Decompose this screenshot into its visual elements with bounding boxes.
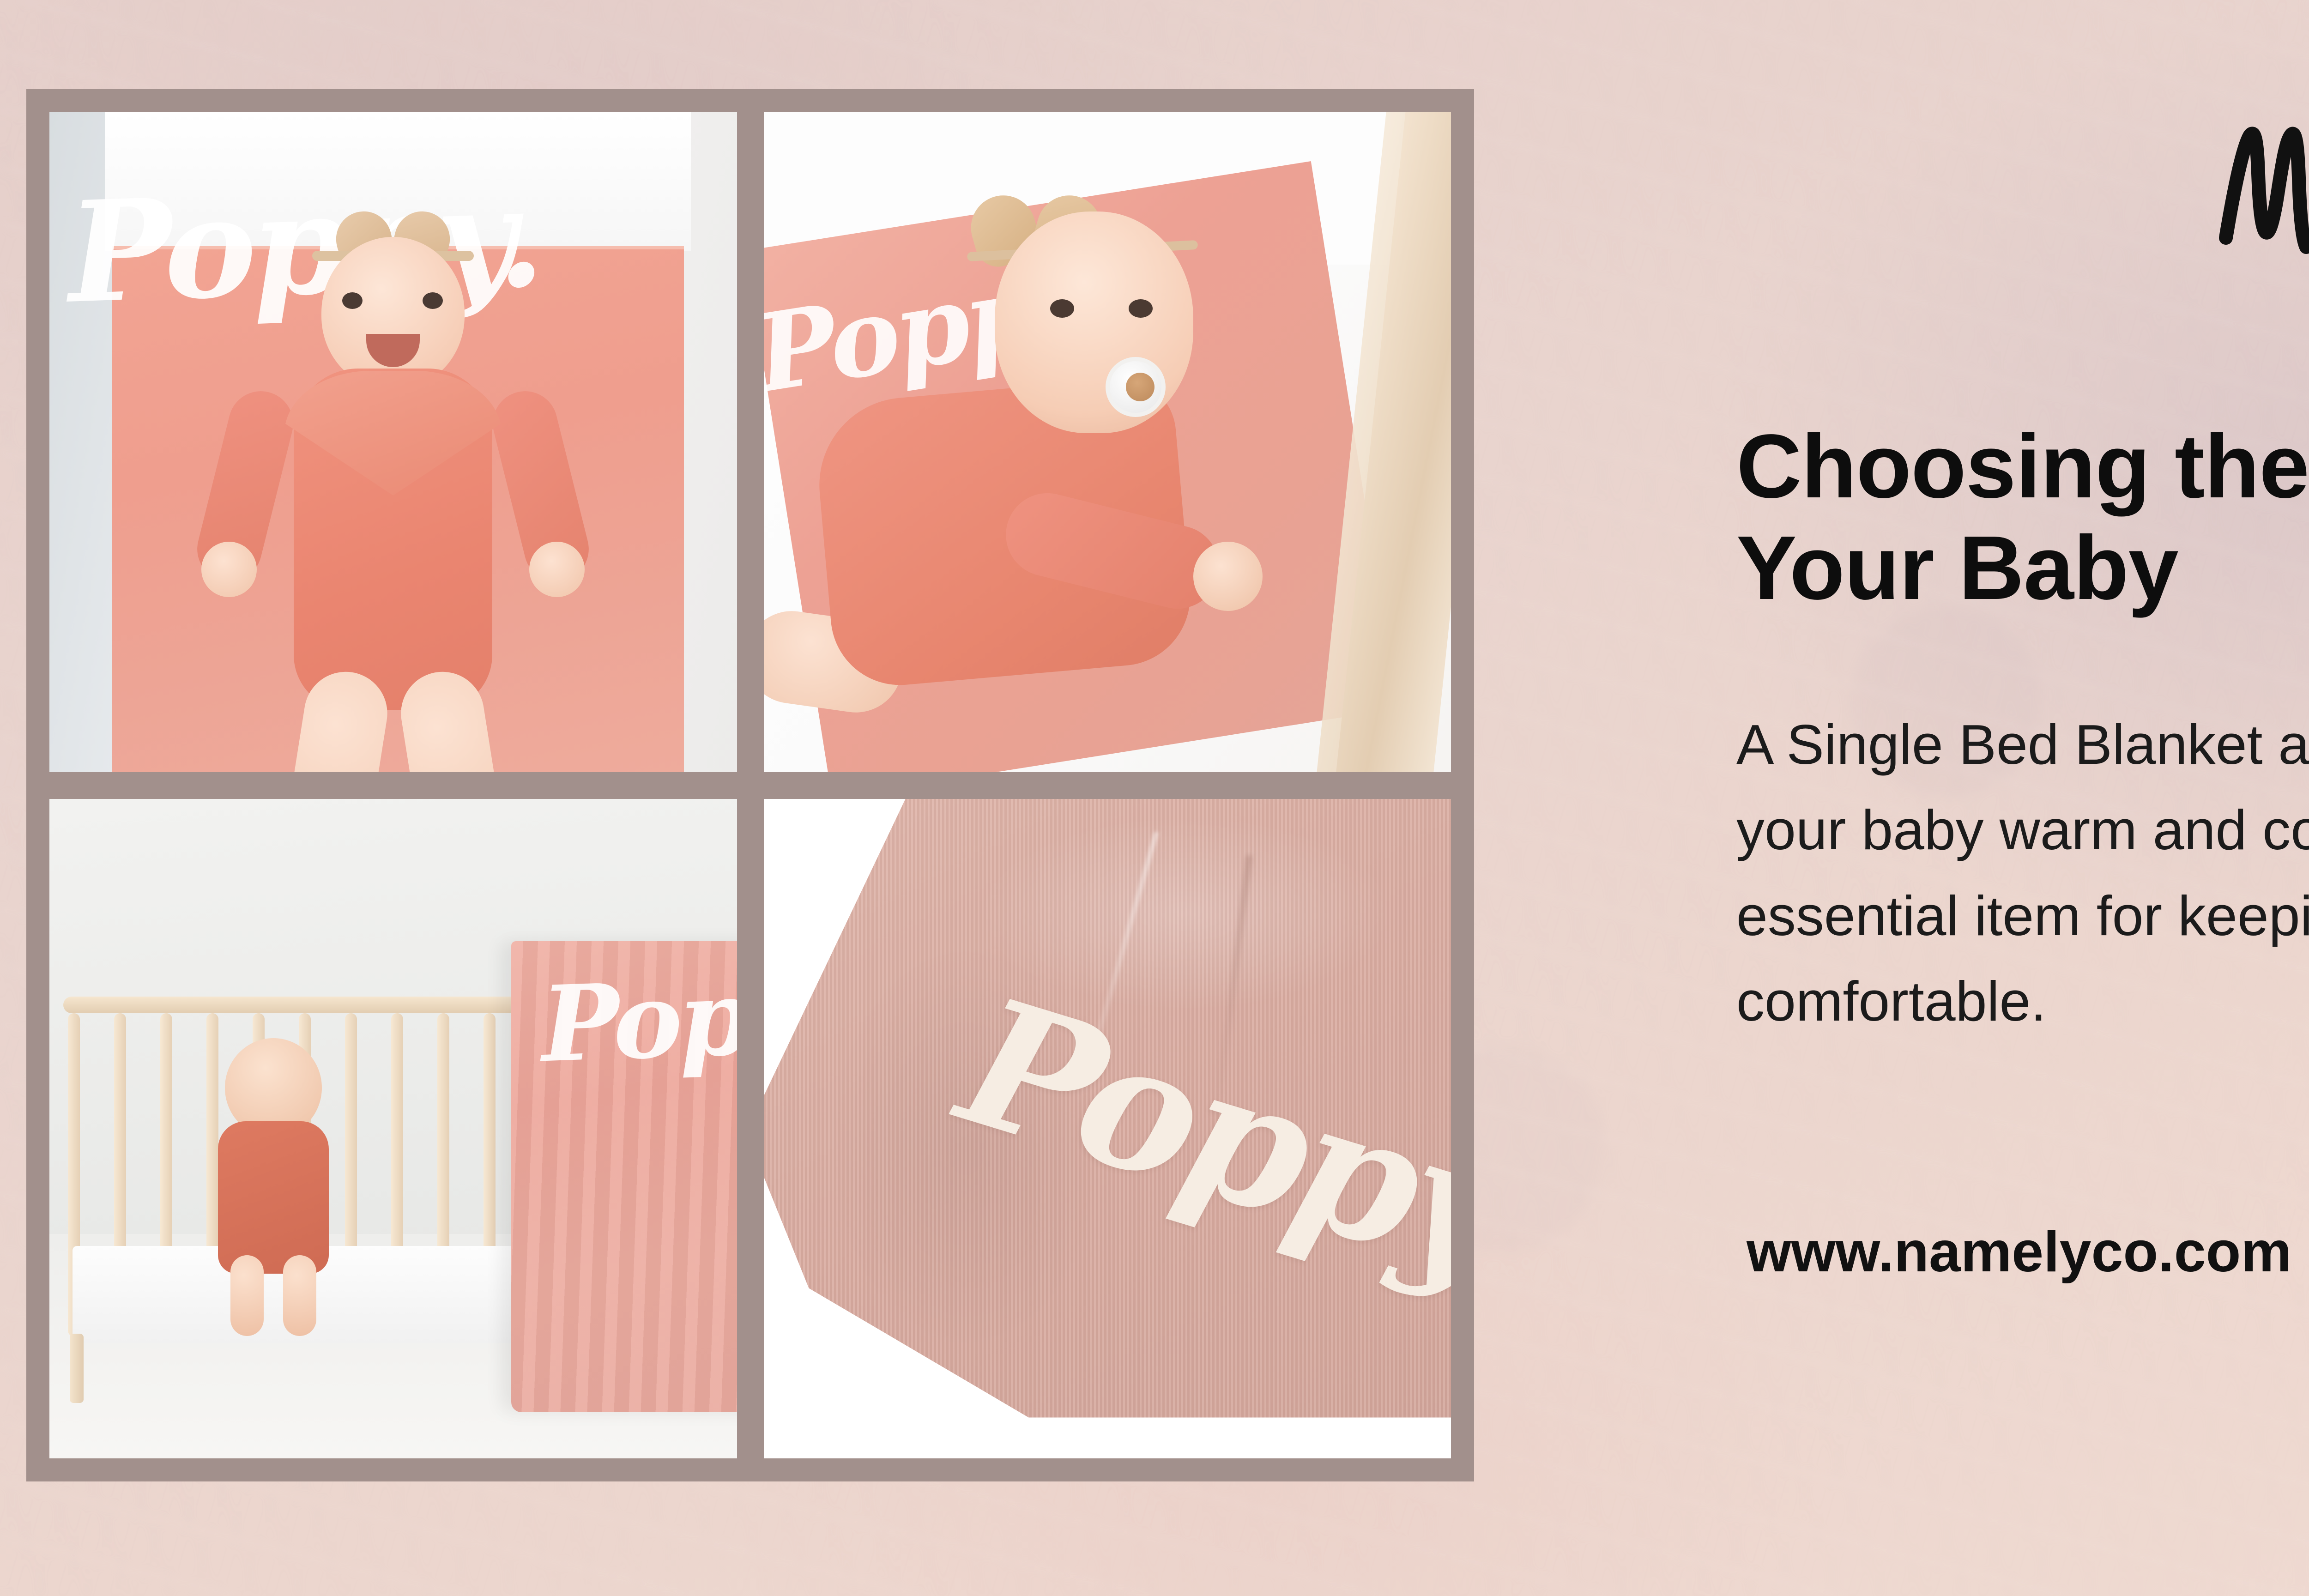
blanket-name-text: Poppy. — [539, 952, 737, 1086]
photo-collage: Poppy. Poppy. — [26, 89, 1474, 1481]
baby-eye-right — [423, 292, 443, 309]
baby-standing — [197, 1038, 350, 1324]
website-url[interactable]: www.namelyco.com — [1747, 1219, 2292, 1285]
content-panel: Choosing the Right Bedding for Your Baby… — [1736, 0, 2309, 1596]
body-paragraph: A Single Bed Blanket and baby beanie can… — [1736, 702, 2309, 1045]
baby-eye-right — [1129, 299, 1153, 318]
baby-eye-left — [342, 292, 363, 309]
baby-eye-left — [1050, 299, 1074, 318]
pacifier-icon — [1069, 352, 1166, 422]
collage-photo-top-left[interactable]: Poppy. — [49, 112, 737, 772]
baby-hand — [1193, 542, 1263, 611]
baby-hand-right — [529, 542, 585, 597]
collage-photo-top-right[interactable]: Poppy. — [764, 112, 1451, 772]
collage-photo-bottom-right[interactable]: Poppy. — [764, 799, 1451, 1459]
blanket-name-text: Poppy. — [65, 155, 542, 334]
namelyco-logo[interactable] — [2207, 85, 2309, 270]
collage-photo-bottom-left[interactable]: Poppy. — [49, 799, 737, 1459]
page-title: Choosing the Right Bedding for Your Baby — [1736, 416, 2309, 618]
baby-hand-left — [201, 542, 257, 597]
